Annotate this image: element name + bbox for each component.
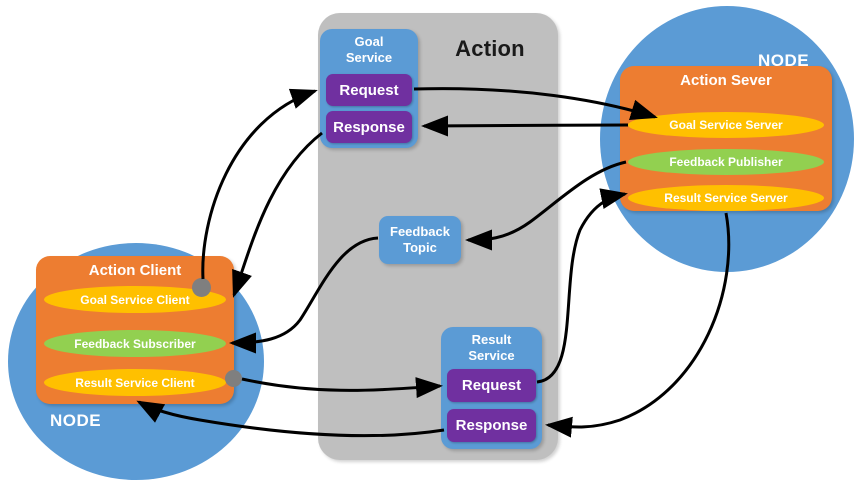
result-response-box[interactable]: Response [447,409,536,442]
goal-response-box[interactable]: Response [326,111,412,143]
feedback-topic-title-line1: Feedback [390,224,450,239]
result-service-title: Result Service [441,332,542,365]
action-server-title: Action Sever [620,72,832,89]
arrow-goal-client-to-goal-request [203,91,315,279]
feedback-publisher-ellipse[interactable]: Feedback Publisher [628,149,824,175]
goal-service-server-ellipse[interactable]: Goal Service Server [628,112,824,138]
arrow-goal-response-to-goal-service-client [234,133,322,295]
goal-service-title-line1: Goal [355,34,384,49]
node-label-client: NODE [50,411,101,431]
goal-request-box[interactable]: Request [326,74,412,106]
result-service-title-line2: Service [468,348,514,363]
action-client-title: Action Client [36,262,234,279]
diagram-canvas: Action NODE NODE Action Client Goal Serv… [0,0,854,480]
result-service-server-ellipse[interactable]: Result Service Server [628,185,824,211]
feedback-topic-title-line2: Topic [403,240,437,255]
result-service-client-ellipse[interactable]: Result Service Client [44,369,226,396]
result-request-box[interactable]: Request [447,369,536,402]
feedback-subscriber-ellipse[interactable]: Feedback Subscriber [44,330,226,357]
feedback-topic-title: Feedback Topic [390,224,450,257]
goal-service-title: Goal Service [320,34,418,67]
connector-dot-result-client [225,370,242,387]
goal-service-title-line2: Service [346,50,392,65]
connector-dot-goal-client [192,278,211,297]
result-service-title-line1: Result [472,332,512,347]
feedback-topic-box[interactable]: Feedback Topic [379,216,461,264]
action-panel-title: Action [430,36,550,62]
